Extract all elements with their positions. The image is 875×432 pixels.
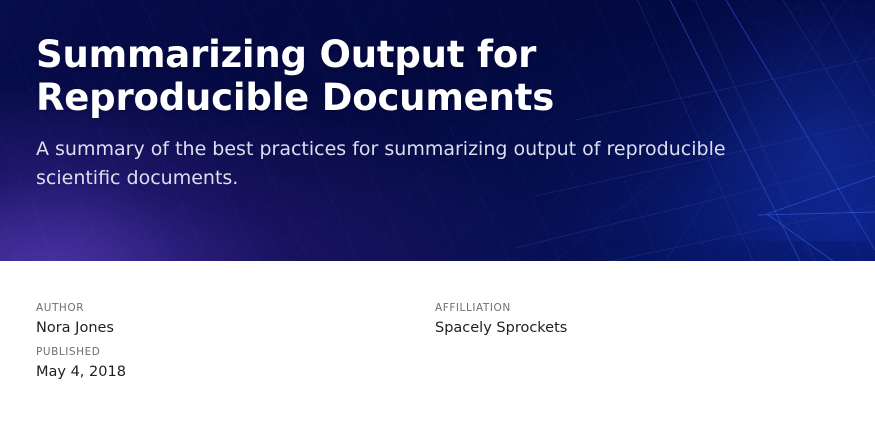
- document-metadata: AUTHOR Nora Jones PUBLISHED May 4, 2018 …: [0, 261, 875, 384]
- metadata-column-author: AUTHOR Nora Jones PUBLISHED May 4, 2018: [36, 301, 435, 384]
- hero-content: Summarizing Output for Reproducible Docu…: [0, 0, 875, 193]
- affiliation-label: AFFILLIATION: [435, 301, 839, 317]
- author-value: Nora Jones: [36, 317, 435, 340]
- affiliation-value: Spacely Sprockets: [435, 317, 839, 340]
- page-title: Summarizing Output for Reproducible Docu…: [36, 34, 736, 120]
- author-label: AUTHOR: [36, 301, 435, 317]
- published-label: PUBLISHED: [36, 345, 435, 361]
- page-subtitle: A summary of the best practices for summ…: [36, 135, 806, 193]
- metadata-column-affiliation: AFFILLIATION Spacely Sprockets: [435, 301, 839, 340]
- document-hero-banner: Summarizing Output for Reproducible Docu…: [0, 0, 875, 261]
- published-value: May 4, 2018: [36, 361, 435, 384]
